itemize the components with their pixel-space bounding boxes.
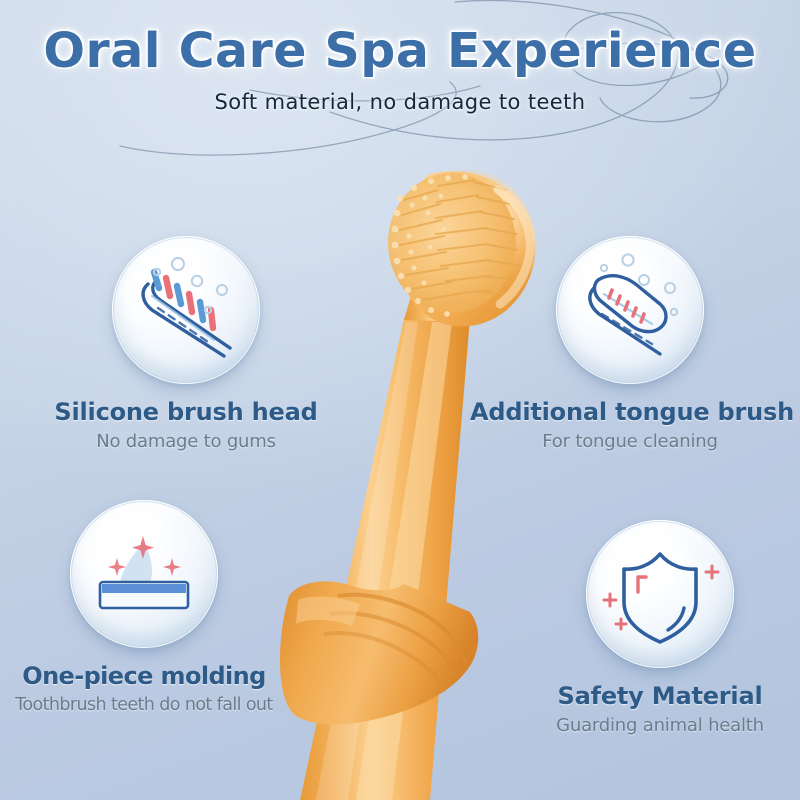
page-title: Oral Care Spa Experience (0, 26, 800, 78)
page-subtitle: Soft material, no damage to teeth (0, 90, 800, 114)
one-piece-mold-icon (70, 500, 218, 648)
feature-subtitle: No damage to gums (36, 431, 336, 452)
feature-title: One-piece molding (0, 662, 290, 690)
feature-subtitle: Toothbrush teeth do not fall out (0, 695, 290, 715)
shield-icon (586, 520, 734, 668)
feature-icon-bubble (586, 520, 734, 668)
product-infographic-poster: Oral Care Spa Experience Soft material, … (0, 0, 800, 800)
feature-title: Silicone brush head (36, 398, 336, 426)
feature-icon-bubble (70, 500, 218, 648)
feature-icon-bubble (112, 236, 260, 384)
tongue-brush-icon (556, 236, 704, 384)
feature-icon-bubble (556, 236, 704, 384)
poster-header: Oral Care Spa Experience Soft material, … (0, 26, 800, 114)
toothbrush-bristles-icon (112, 236, 260, 384)
feature-title: Additional tongue brush (470, 398, 790, 426)
feature-subtitle: For tongue cleaning (470, 431, 790, 452)
feature-subtitle: Guarding animal health (520, 715, 800, 736)
feature-silicone-brush-head: Silicone brush head No damage to gums (36, 236, 336, 452)
feature-one-piece-molding: One-piece molding Toothbrush teeth do no… (0, 500, 290, 715)
feature-safety-material: Safety Material Guarding animal health (520, 520, 800, 736)
feature-additional-tongue-brush: Additional tongue brush For tongue clean… (470, 236, 790, 452)
feature-title: Safety Material (520, 682, 800, 710)
